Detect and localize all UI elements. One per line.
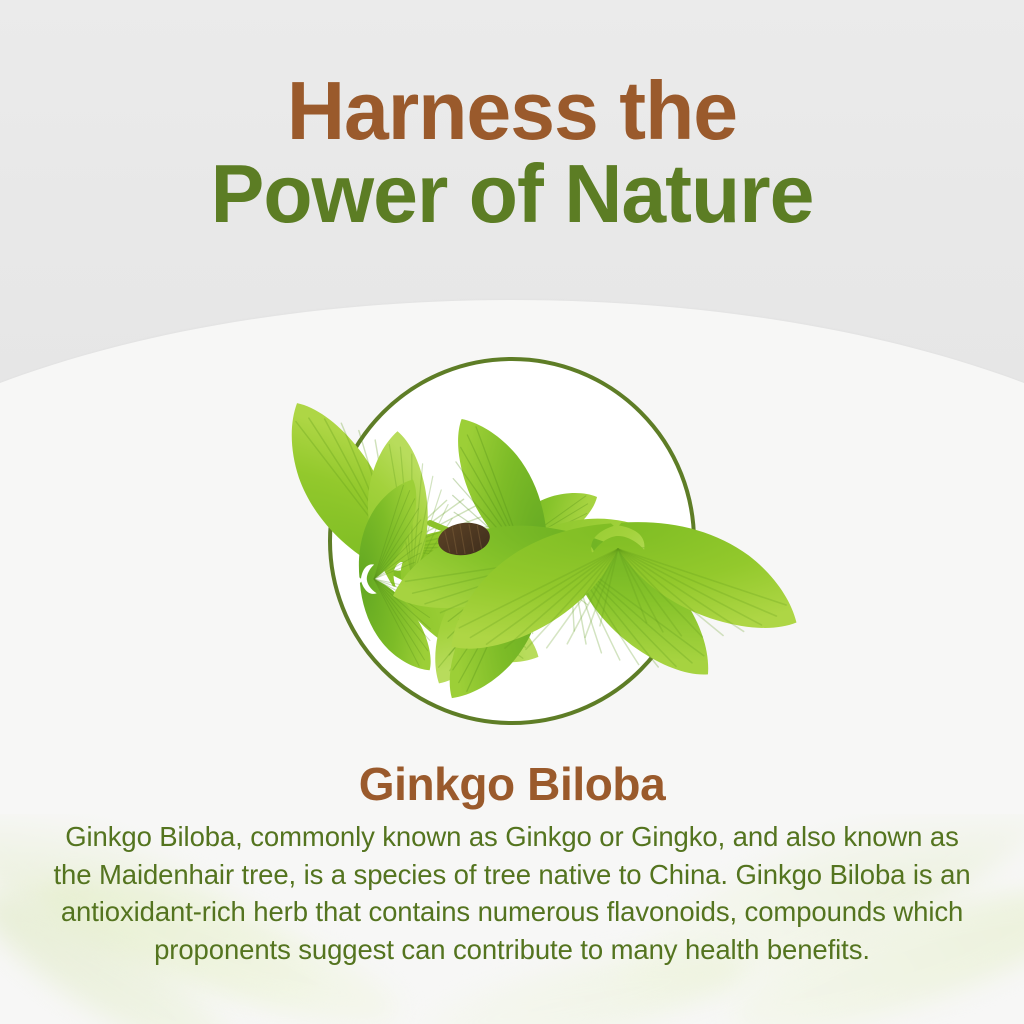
headline-line-2: Power of Nature bbox=[15, 155, 1008, 234]
product-description: Ginkgo Biloba, commonly known as Ginkgo … bbox=[52, 818, 972, 969]
page-title: Harness the Power of Nature bbox=[0, 72, 1024, 234]
product-name: Ginkgo Biloba bbox=[0, 757, 1024, 811]
headline-line-1: Harness the bbox=[15, 72, 1008, 151]
promo-poster: Harness the Power of Nature bbox=[0, 0, 1024, 1024]
ginkgo-leaf-illustration bbox=[198, 327, 838, 757]
product-image bbox=[328, 357, 696, 725]
